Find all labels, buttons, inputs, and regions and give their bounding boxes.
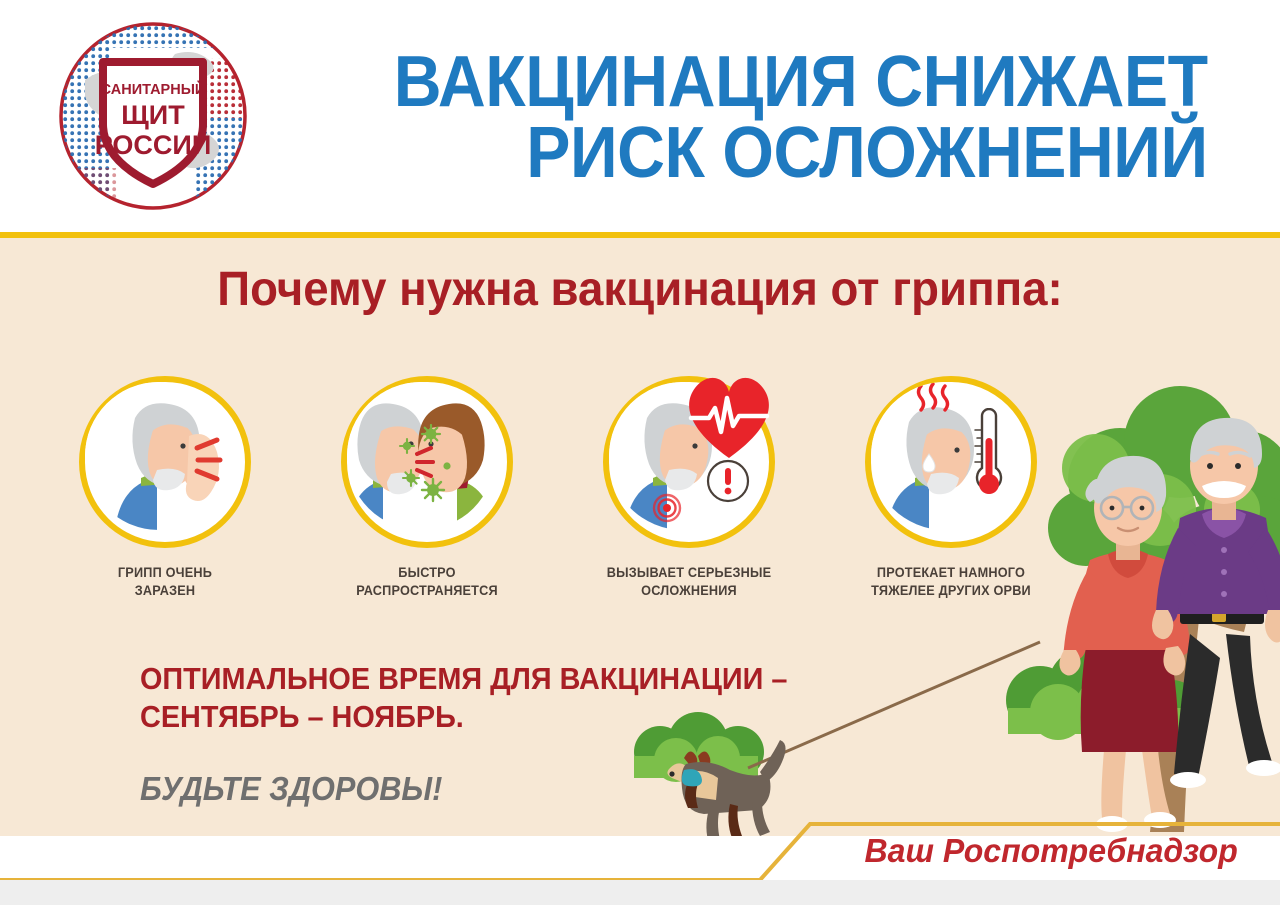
virus-spread-between-people-icon <box>341 376 513 548</box>
headline-line-1: ВАКЦИНАЦИЯ СНИЖАЕТ <box>394 47 1208 118</box>
headline-line-2: РИСК ОСЛОЖНЕНИЙ <box>527 118 1208 189</box>
bottom-line-1: ОПТИМАЛЬНОЕ ВРЕМЯ ДЛЯ ВАКЦИНАЦИИ – <box>140 660 828 698</box>
icon-item-1: ГРИПП ОЧЕНЬ ЗАРАЗЕН <box>40 376 290 600</box>
poster-headline: ВАКЦИНАЦИЯ СНИЖАЕТ РИСК ОСЛОЖНЕНИЙ <box>288 18 1208 218</box>
be-healthy-text: БУДЬТЕ ЗДОРОВЫ! <box>140 770 828 808</box>
page-background-strip <box>0 880 1280 905</box>
logo-line3: РОССИИ <box>95 130 211 160</box>
icon-caption-1: ГРИПП ОЧЕНЬ ЗАРАЗЕН <box>48 564 283 600</box>
bottom-line-2: СЕНТЯБРЬ – НОЯБРЬ. <box>140 698 828 736</box>
icon-item-2: БЫСТРО РАСПРОСТРАНЯЕТСЯ <box>302 376 552 600</box>
logo-line2: ЩИТ <box>121 100 185 130</box>
caption-line: ГРИПП ОЧЕНЬ <box>48 564 283 582</box>
footer-signature: Ваш Роспотребнадзор <box>865 832 1238 870</box>
bottom-message: ОПТИМАЛЬНОЕ ВРЕМЯ ДЛЯ ВАКЦИНАЦИИ – СЕНТЯ… <box>140 660 880 808</box>
sanitary-shield-of-russia-logo: САНИТАРНЫЙ ЩИТ РОССИИ <box>55 18 251 214</box>
logo-svg: САНИТАРНЫЙ ЩИТ РОССИИ <box>55 18 251 214</box>
logo-line1: САНИТАРНЫЙ <box>101 80 206 98</box>
coughing-person-icon <box>79 376 251 548</box>
caption-line: РАСПРОСТРАНЯЕТСЯ <box>310 582 545 600</box>
poster: САНИТАРНЫЙ ЩИТ РОССИИ ВАКЦИНАЦИЯ СНИЖАЕТ… <box>0 0 1280 880</box>
caption-line: ЗАРАЗЕН <box>48 582 283 600</box>
header-divider <box>0 232 1280 238</box>
section-subtitle: Почему нужна вакцинация от гриппа: <box>32 262 1248 317</box>
caption-line: БЫСТРО <box>310 564 545 582</box>
icon-caption-2: БЫСТРО РАСПРОСТРАНЯЕТСЯ <box>310 564 545 600</box>
